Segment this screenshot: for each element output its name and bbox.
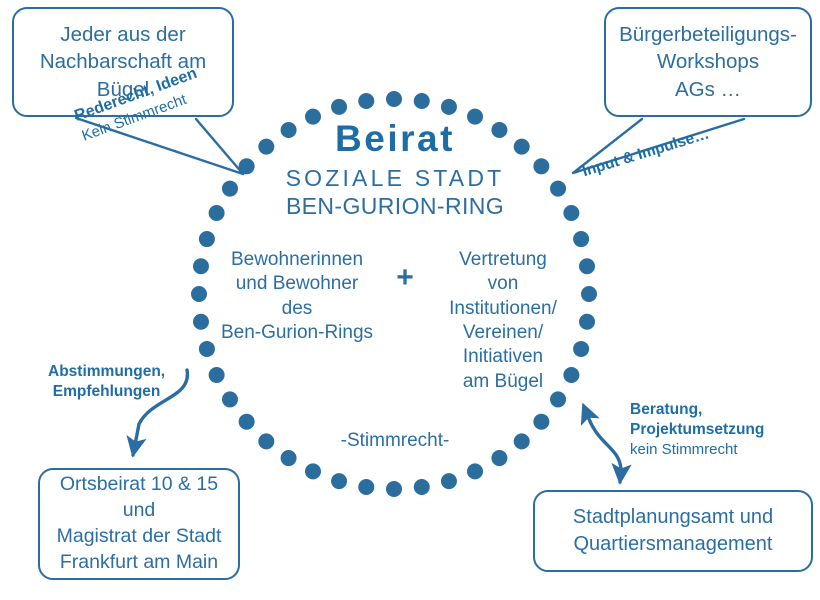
member-group-residents: Bewohnerinnen und Bewohner des Ben-Gurio… — [211, 248, 383, 345]
member-left-line-3: des — [282, 298, 313, 319]
connector-label-abstimmungen: Abstimmungen, Empfehlungen — [48, 362, 165, 402]
member-right-line-4: Vereinen/ — [463, 322, 543, 343]
ring-dot — [441, 473, 457, 489]
ring-dot — [386, 481, 402, 497]
ring-dot — [467, 463, 483, 479]
box-ortsbeirat-magistrat: Ortsbeirat 10 & 15 und Magistrat der Sta… — [38, 468, 240, 580]
ring-dot — [331, 473, 347, 489]
diagram-canvas: Beirat SOZIALE STADT BEN-GURION-RING Bew… — [0, 0, 820, 600]
subtitle-ben-gurion-ring: BEN-GURION-RING — [200, 193, 590, 221]
speech-bubble-participation: Bürgerbeteiligungs- Workshops AGs … — [604, 7, 812, 117]
connector-label-abstimmungen-line-2: Empfehlungen — [48, 382, 165, 402]
beirat-circle-content: Beirat SOZIALE STADT BEN-GURION-RING Bew… — [200, 120, 590, 460]
ring-dot — [358, 479, 374, 495]
members-row: Bewohnerinnen und Bewohner des Ben-Gurio… — [200, 248, 590, 394]
member-right-line-3: Institutionen/ — [449, 298, 557, 319]
box-ortsbeirat-line-2: und — [48, 498, 230, 524]
member-group-institutions: Vertretung von Institutionen/ Vereinen/ … — [427, 248, 579, 394]
member-left-line-4: Ben-Gurion-Rings — [221, 322, 373, 343]
bubble-participation-line-1: Bürgerbeteiligungs- — [614, 21, 802, 48]
box-ortsbeirat-line-4: Frankfurt am Main — [48, 550, 230, 576]
connector-label-abstimmungen-line-1: Abstimmungen, — [48, 362, 165, 382]
member-right-line-2: von — [488, 273, 519, 294]
member-right-line-5: Initiativen — [463, 346, 543, 367]
member-right-line-1: Vertretung — [459, 249, 547, 270]
member-left-line-2: und Bewohner — [236, 273, 359, 294]
connector-label-beratung-line-2: Projektumsetzung — [630, 420, 764, 440]
connector-label-beratung-line-1: Beratung, — [630, 400, 764, 420]
bubble-participation-line-2: Workshops — [614, 48, 802, 75]
ring-dot — [441, 99, 457, 115]
ring-dot — [358, 93, 374, 109]
box-stadtplanung-line-1: Stadtplanungsamt und — [543, 504, 803, 531]
ring-dot — [414, 479, 430, 495]
member-right-line-6: am Bügel — [463, 371, 543, 392]
box-stadtplanung-line-2: Quartiersmanagement — [543, 531, 803, 558]
subtitle-soziale-stadt: SOZIALE STADT — [200, 164, 590, 193]
bubble-participation-line-3: AGs … — [614, 76, 802, 103]
ring-dot — [386, 91, 402, 107]
box-ortsbeirat-line-1: Ortsbeirat 10 & 15 — [48, 472, 230, 498]
box-stadtplanungsamt-quartiersmanagement: Stadtplanungsamt und Quartiersmanagement — [533, 490, 813, 572]
voting-rights-note: -Stimmrecht- — [200, 430, 590, 452]
ring-dot — [414, 93, 430, 109]
bubble-neighbourhood-line-1: Jeder aus der — [22, 21, 224, 48]
ring-dot — [331, 99, 347, 115]
plus-icon: + — [383, 248, 427, 294]
ring-dot — [305, 463, 321, 479]
member-left-line-1: Bewohnerinnen — [231, 249, 363, 270]
arrow-beratung — [589, 419, 621, 482]
page-title: Beirat — [200, 120, 590, 157]
box-ortsbeirat-line-3: Magistrat der Stadt — [48, 524, 230, 550]
connector-label-beratung-line-3: kein Stimmrecht — [630, 440, 764, 459]
connector-label-beratung: Beratung, Projektumsetzung kein Stimmrec… — [630, 400, 764, 459]
